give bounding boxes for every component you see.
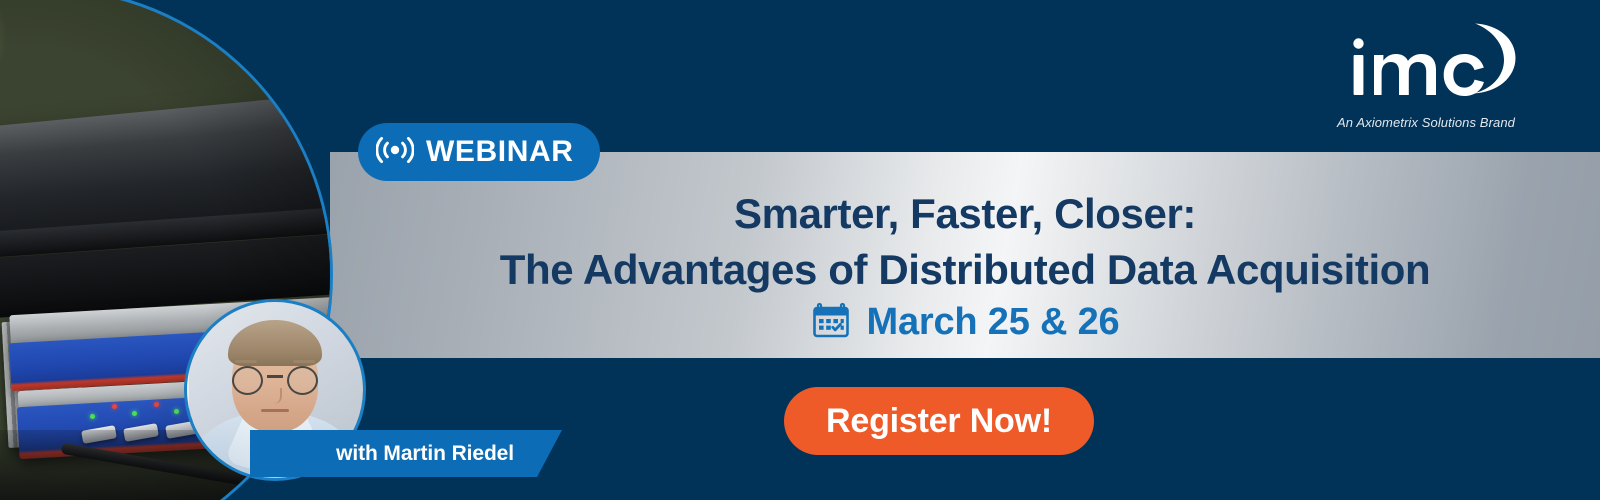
webinar-badge: WEBINAR [358, 123, 600, 181]
title-line-2: The Advantages of Distributed Data Acqui… [330, 242, 1600, 298]
title-line-1: Smarter, Faster, Closer: [330, 186, 1600, 242]
portrait-eyebrow-right [293, 360, 315, 363]
imc-logo-tagline: An Axiometrix Solutions Brand [1336, 115, 1516, 130]
date-text: March 25 & 26 [867, 301, 1120, 344]
date-row: March 25 & 26 [330, 300, 1600, 345]
title-block: Smarter, Faster, Closer: The Advantages … [330, 186, 1600, 298]
speaker-name-ribbon: with Martin Riedel [250, 430, 562, 477]
imc-wordmark-icon [1336, 22, 1516, 113]
imc-logo: An Axiometrix Solutions Brand [1336, 22, 1516, 130]
speaker-name-label: with Martin Riedel [336, 442, 514, 466]
portrait-glasses-bridge [267, 375, 283, 378]
calendar-icon [811, 300, 851, 345]
broadcast-signal-icon [376, 135, 414, 170]
register-now-label: Register Now! [826, 402, 1052, 441]
register-now-button[interactable]: Register Now! [784, 387, 1094, 455]
portrait-glasses-left [232, 366, 263, 395]
portrait-mouth [261, 409, 289, 412]
portrait-glasses-right [287, 366, 318, 395]
webinar-banner: WEBINAR Smarter, Faster, Closer: The Adv… [0, 0, 1600, 500]
portrait-eyebrow-left [235, 360, 257, 363]
webinar-badge-label: WEBINAR [426, 135, 574, 169]
